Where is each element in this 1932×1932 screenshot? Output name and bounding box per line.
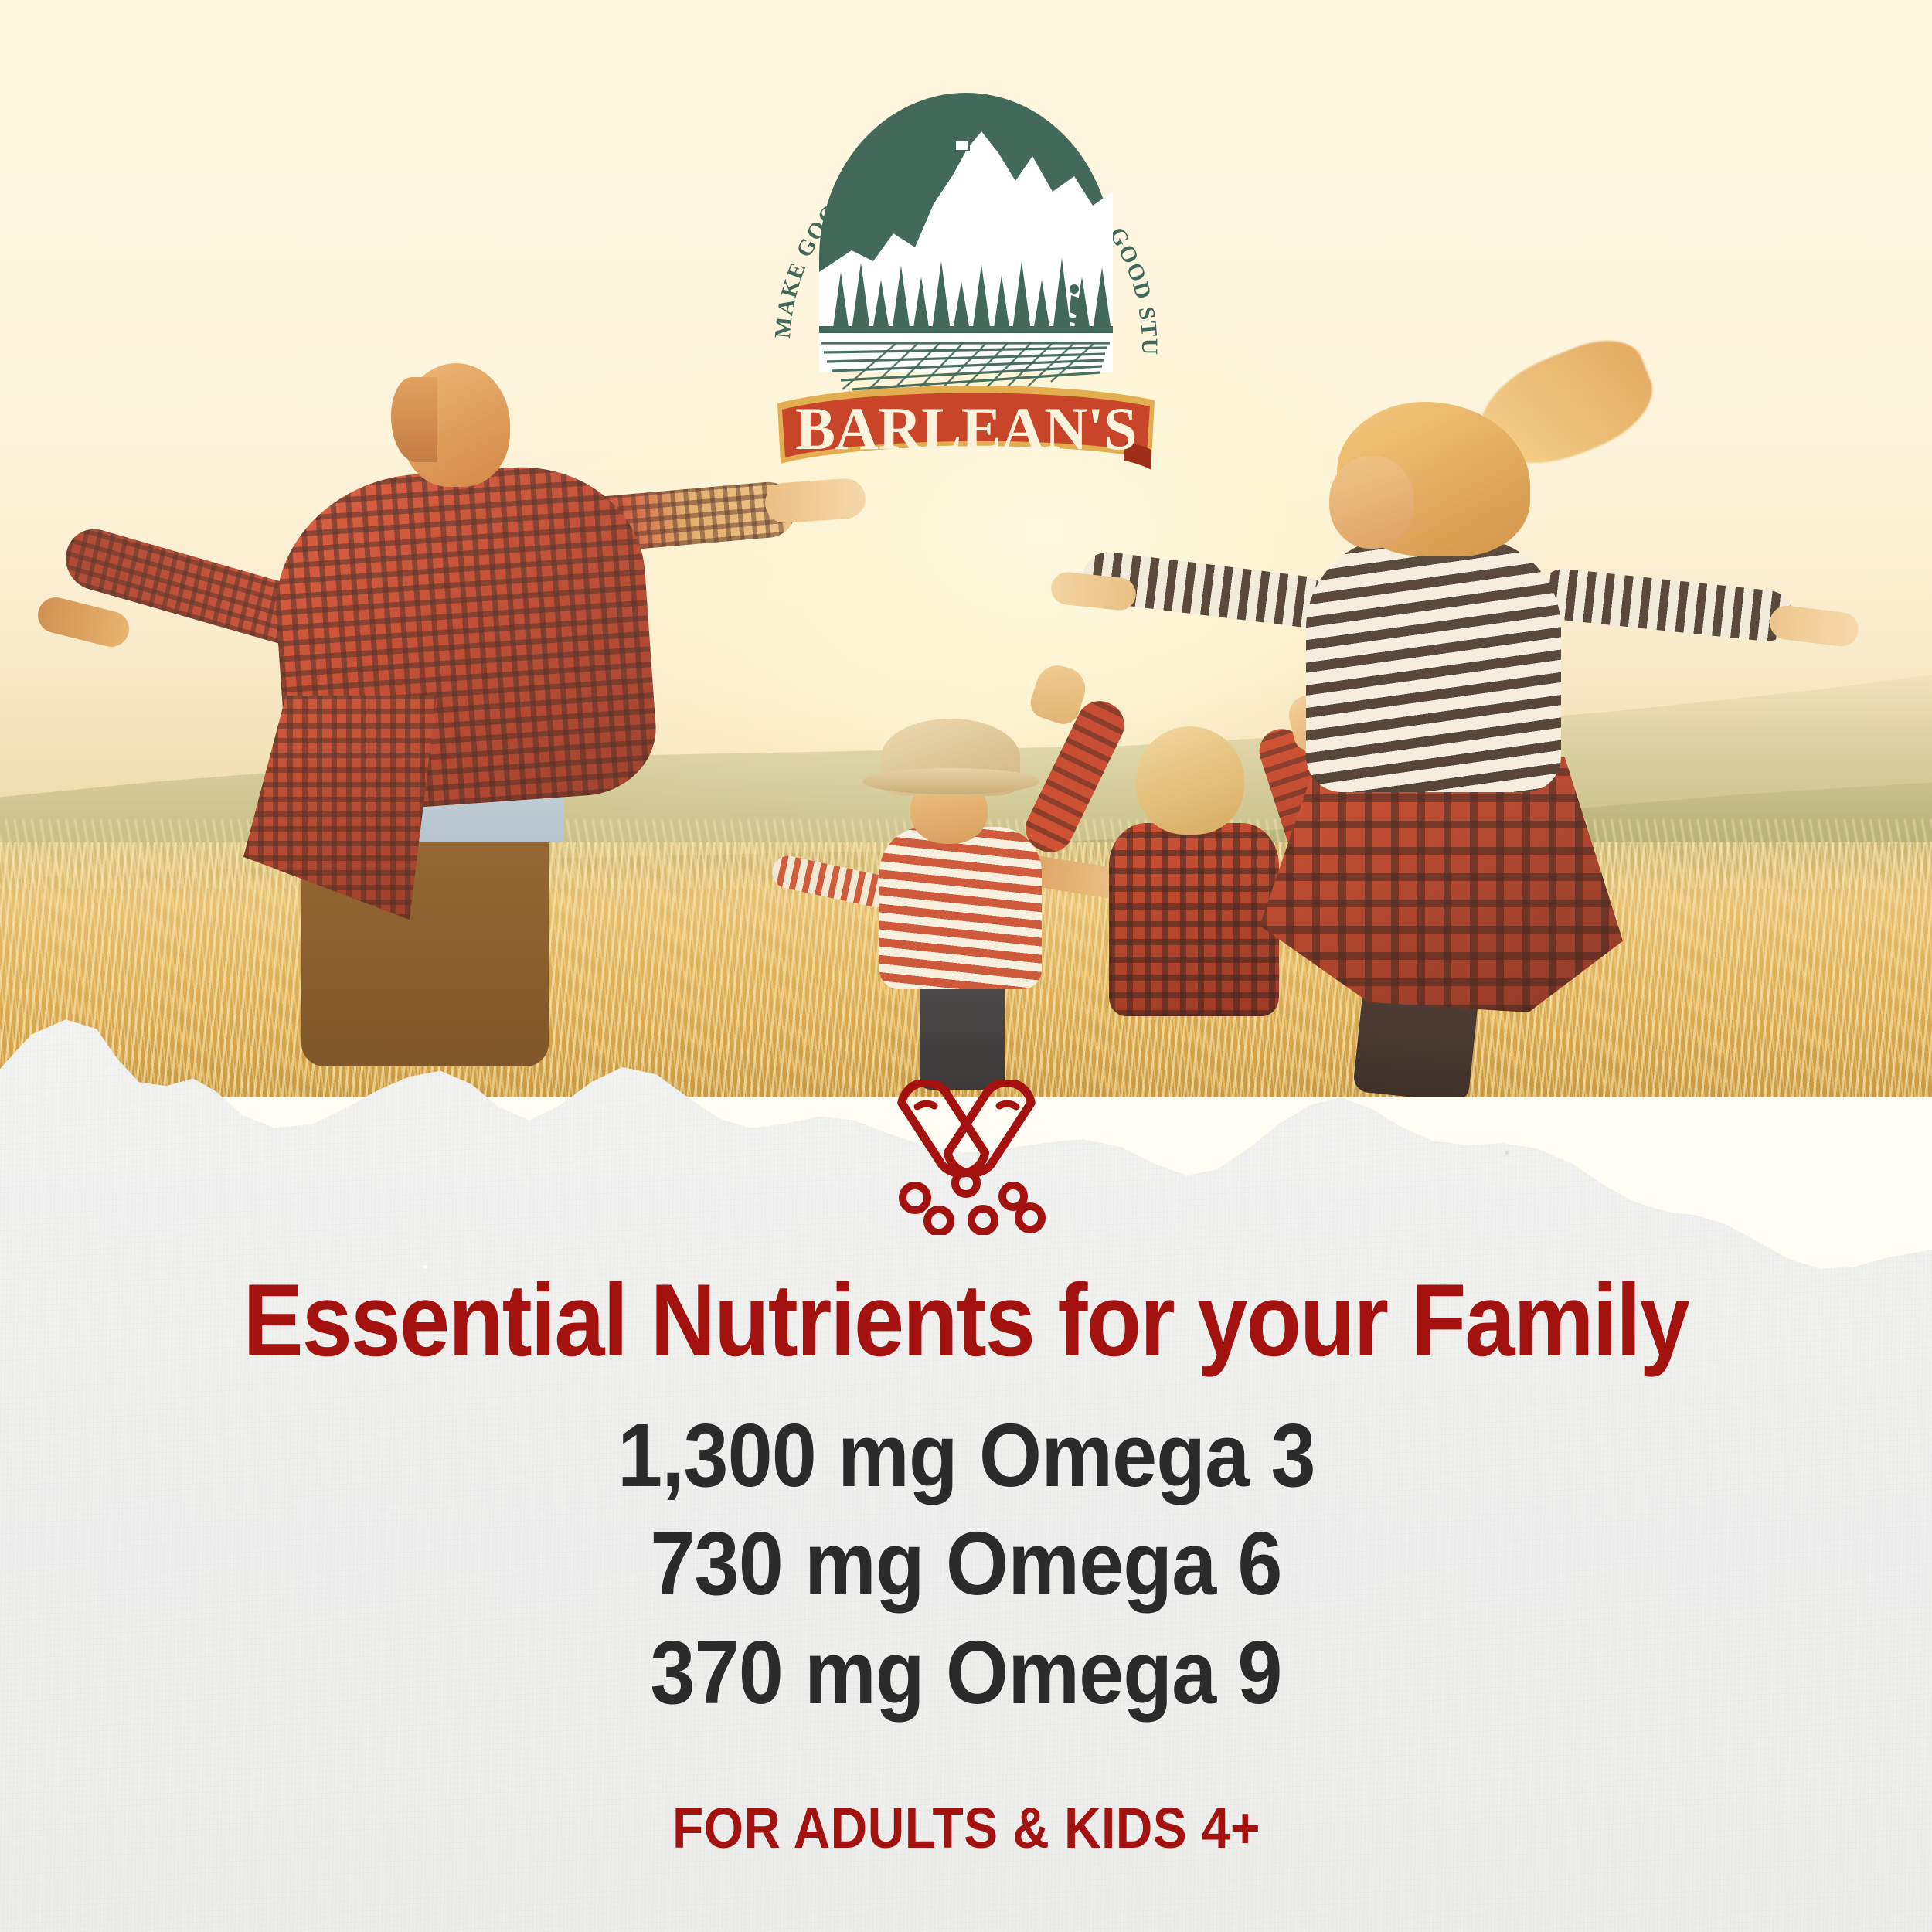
figure-mother <box>1105 402 1878 1082</box>
product-ad-creative: WE MAKE GOOD STUFF SO YOU CAN DO GOOD ST… <box>0 0 1932 1932</box>
mother-plaid-skirt <box>1260 757 1623 1012</box>
audience-footnote: FOR ADULTS & KIDS 4+ <box>672 1795 1260 1861</box>
mother-head <box>1329 456 1414 549</box>
omega-3-line: 1,300 mg Omega 3 <box>617 1403 1315 1508</box>
girl-striped-shirt <box>879 827 1042 989</box>
omega-6-line: 730 mg Omega 6 <box>650 1512 1281 1616</box>
info-panel: Essential Nutrients for your Family 1,30… <box>0 981 1932 1932</box>
logo-brand-name: BARLEAN'S <box>795 395 1137 462</box>
mother-striped-top <box>1306 537 1561 792</box>
father-shirt-flap <box>243 696 437 920</box>
logo-ribbon: BARLEAN'S <box>777 386 1155 470</box>
girl-straw-hat <box>881 719 1020 796</box>
omega-9-line: 370 mg Omega 9 <box>650 1621 1281 1725</box>
omega-list: 1,300 mg Omega 3 730 mg Omega 6 370 mg O… <box>579 1403 1354 1725</box>
mother-right-arm <box>1536 566 1794 644</box>
father-left-hand <box>34 594 133 651</box>
softgel-capsules-icon <box>883 1080 1049 1235</box>
logo-mountain-scene <box>819 93 1113 396</box>
mother-right-hand <box>1768 604 1861 648</box>
father-head <box>402 363 510 487</box>
page-title: Essential Nutrients for your Family <box>243 1269 1689 1374</box>
barleans-logo: WE MAKE GOOD STUFF SO YOU CAN DO GOOD ST… <box>750 40 1182 488</box>
